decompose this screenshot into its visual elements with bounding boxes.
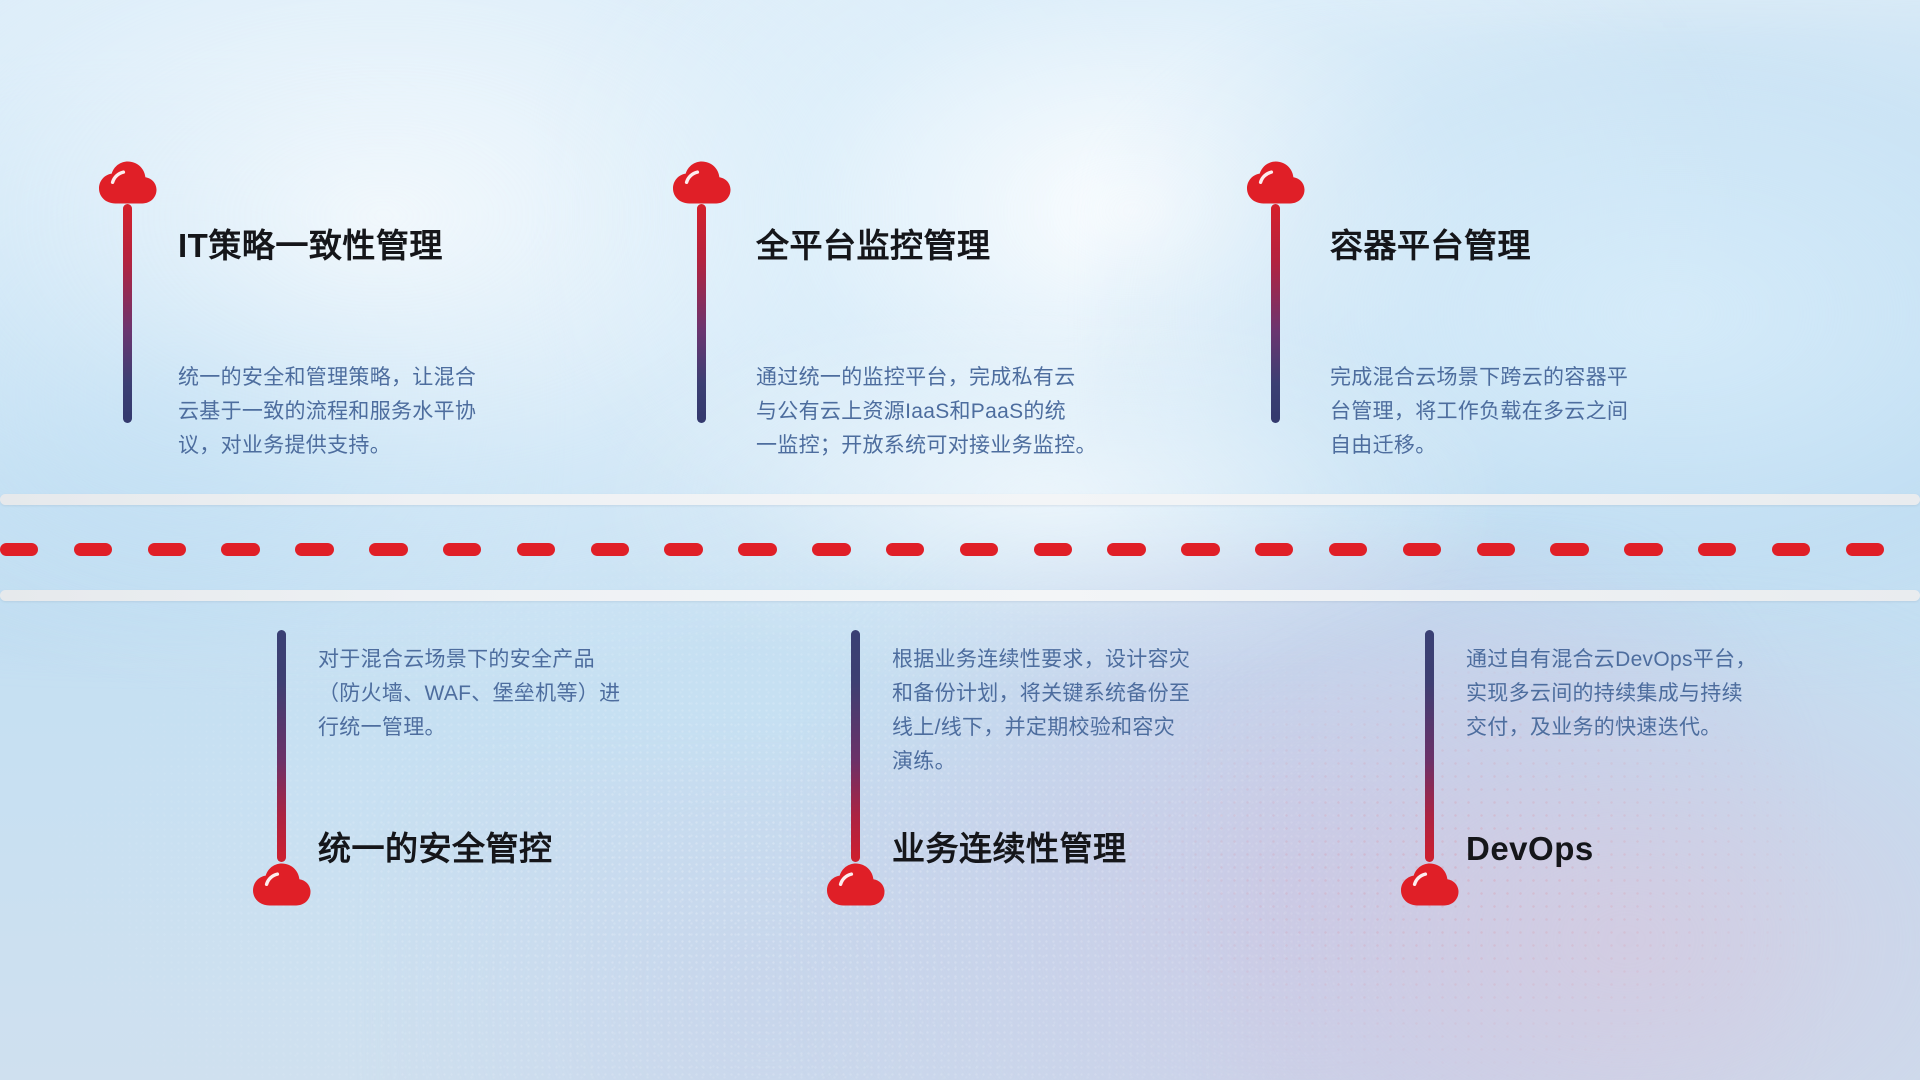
connector-stem bbox=[1271, 204, 1280, 423]
dash-segment bbox=[295, 543, 333, 556]
connector-stem bbox=[851, 630, 860, 862]
body-line: 演练。 bbox=[892, 745, 1332, 779]
top-item-2 bbox=[672, 160, 732, 423]
bottom-item-2-body: 根据业务连续性要求，设计容灾 和备份计划，将关键系统备份至 线上/线下，并定期校… bbox=[892, 643, 1332, 779]
dash-segment bbox=[1550, 543, 1588, 556]
bottom-item-3 bbox=[1400, 630, 1460, 906]
dash-segment bbox=[1846, 543, 1884, 556]
body-line: 一监控；开放系统可对接业务监控。 bbox=[756, 429, 1226, 463]
connector-stem bbox=[1425, 630, 1434, 862]
bottom-item-2 bbox=[826, 630, 886, 906]
dash-segment bbox=[74, 543, 112, 556]
dash-segment bbox=[1403, 543, 1441, 556]
bottom-item-1 bbox=[252, 630, 312, 906]
body-line: 线上/线下，并定期校验和容灾 bbox=[892, 711, 1332, 745]
body-line: 台管理，将工作负载在多云之间 bbox=[1330, 395, 1780, 429]
bottom-item-3-body: 通过自有混合云DevOps平台， 实现多云间的持续集成与持续 交付，及业务的快速… bbox=[1466, 643, 1896, 745]
top-item-3 bbox=[1246, 160, 1306, 423]
body-line: 自由迁移。 bbox=[1330, 429, 1780, 463]
top-item-2-heading: 全平台监控管理 bbox=[756, 229, 991, 262]
dash-segment bbox=[1477, 543, 1515, 556]
cloud-icon bbox=[672, 160, 732, 204]
connector-stem bbox=[277, 630, 286, 862]
cloud-icon bbox=[826, 862, 886, 906]
dash-segment bbox=[1107, 543, 1145, 556]
connector-stem bbox=[123, 204, 132, 423]
divider-rule-top bbox=[0, 494, 1920, 505]
body-line: 云基于一致的流程和服务水平协 bbox=[178, 395, 628, 429]
top-item-3-body: 完成混合云场景下跨云的容器平 台管理，将工作负载在多云之间 自由迁移。 bbox=[1330, 361, 1780, 463]
body-line: 对于混合云场景下的安全产品 bbox=[318, 643, 758, 677]
dash-segment bbox=[1698, 543, 1736, 556]
cloud-icon bbox=[98, 160, 158, 204]
dash-segment bbox=[812, 543, 850, 556]
bottom-item-1-heading: 统一的安全管控 bbox=[318, 832, 553, 865]
body-line: 行统一管理。 bbox=[318, 711, 758, 745]
body-line: 通过统一的监控平台，完成私有云 bbox=[756, 361, 1226, 395]
dash-segment bbox=[1255, 543, 1293, 556]
cloud-icon bbox=[1246, 160, 1306, 204]
dash-segment bbox=[1034, 543, 1072, 556]
top-item-1 bbox=[98, 160, 158, 423]
dashed-separator-icon bbox=[0, 542, 1920, 556]
dash-segment bbox=[1181, 543, 1219, 556]
body-line: 交付，及业务的快速迭代。 bbox=[1466, 711, 1896, 745]
top-item-2-body: 通过统一的监控平台，完成私有云 与公有云上资源IaaS和PaaS的统 一监控；开… bbox=[756, 361, 1226, 463]
body-line: 根据业务连续性要求，设计容灾 bbox=[892, 643, 1332, 677]
dash-segment bbox=[443, 543, 481, 556]
bottom-item-1-body: 对于混合云场景下的安全产品 （防火墙、WAF、堡垒机等）进 行统一管理。 bbox=[318, 643, 758, 745]
dash-segment bbox=[1772, 543, 1810, 556]
dash-segment bbox=[664, 543, 702, 556]
body-line: 实现多云间的持续集成与持续 bbox=[1466, 677, 1896, 711]
top-item-1-body: 统一的安全和管理策略，让混合 云基于一致的流程和服务水平协 议，对业务提供支持。 bbox=[178, 361, 628, 463]
dash-segment bbox=[738, 543, 776, 556]
dash-segment bbox=[517, 543, 555, 556]
dash-segment bbox=[1329, 543, 1367, 556]
cloud-icon bbox=[252, 862, 312, 906]
body-line: 和备份计划，将关键系统备份至 bbox=[892, 677, 1332, 711]
bottom-item-2-heading: 业务连续性管理 bbox=[892, 832, 1127, 865]
dash-segment bbox=[221, 543, 259, 556]
divider-band bbox=[0, 480, 1920, 610]
dash-segment bbox=[148, 543, 186, 556]
body-line: 统一的安全和管理策略，让混合 bbox=[178, 361, 628, 395]
connector-stem bbox=[697, 204, 706, 423]
infographic-canvas: IT策略一致性管理 统一的安全和管理策略，让混合 云基于一致的流程和服务水平协 … bbox=[0, 0, 1920, 1080]
top-item-3-heading: 容器平台管理 bbox=[1330, 229, 1531, 262]
body-line: 通过自有混合云DevOps平台， bbox=[1466, 643, 1896, 677]
cloud-icon bbox=[1400, 862, 1460, 906]
dash-segment bbox=[0, 543, 38, 556]
divider-rule-bottom bbox=[0, 590, 1920, 601]
body-line: 与公有云上资源IaaS和PaaS的统 bbox=[756, 395, 1226, 429]
body-line: 完成混合云场景下跨云的容器平 bbox=[1330, 361, 1780, 395]
dash-segment bbox=[369, 543, 407, 556]
body-line: （防火墙、WAF、堡垒机等）进 bbox=[318, 677, 758, 711]
dash-segment bbox=[886, 543, 924, 556]
body-line: 议，对业务提供支持。 bbox=[178, 429, 628, 463]
dash-segment bbox=[1624, 543, 1662, 556]
dash-segment bbox=[591, 543, 629, 556]
top-item-1-heading: IT策略一致性管理 bbox=[178, 229, 443, 262]
bottom-item-3-heading: DevOps bbox=[1466, 832, 1594, 865]
dash-segment bbox=[960, 543, 998, 556]
